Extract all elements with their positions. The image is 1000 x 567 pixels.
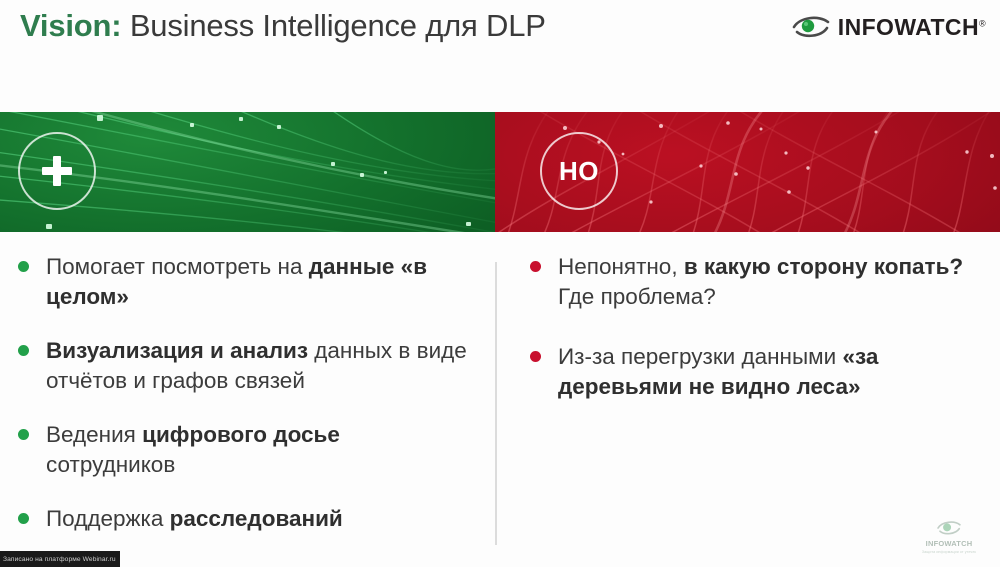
bullet-text: Визуализация и анализ данных в виде отчё…: [46, 336, 473, 396]
registered-mark: ®: [979, 18, 986, 28]
bullet-text: Ведения цифрового досье сотрудников: [46, 420, 473, 480]
infowatch-logo: INFOWATCH®: [791, 10, 986, 44]
bullet-text: Поддержка расследований: [46, 504, 343, 534]
bullet-dot-icon: [18, 261, 29, 272]
bullet-text: Непонятно, в какую сторону копать? Где п…: [558, 252, 980, 312]
title-accent-word: Vision:: [20, 8, 121, 43]
pros-badge: [18, 132, 96, 210]
page-title: Vision: Business Intelligence для DLP: [20, 8, 546, 44]
pros-column: Помогает посмотреть на данные «в целом» …: [18, 252, 473, 557]
banner-red-half: НО: [495, 112, 1000, 232]
footer-logo-watermark: INFOWATCH Защита информации от утечек: [916, 513, 982, 561]
list-item: Помогает посмотреть на данные «в целом»: [18, 252, 473, 312]
cons-badge-label: НО: [559, 158, 599, 184]
footer-watermark-label: INFOWATCH: [926, 539, 973, 548]
list-item: Из-за перегрузки данными «за деревьями н…: [530, 342, 980, 402]
plus-icon: [42, 156, 72, 186]
title-rest: Business Intelligence для DLP: [130, 8, 546, 43]
bullet-dot-icon: [530, 261, 541, 272]
cons-badge: НО: [540, 132, 618, 210]
infowatch-eye-icon: [791, 13, 831, 41]
bullet-text: Помогает посмотреть на данные «в целом»: [46, 252, 473, 312]
bullet-text: Из-за перегрузки данными «за деревьями н…: [558, 342, 980, 402]
bullet-dot-icon: [18, 345, 29, 356]
cons-column: Непонятно, в какую сторону копать? Где п…: [530, 252, 980, 432]
logo-wordmark: INFOWATCH®: [838, 14, 986, 41]
recording-watermark-bar: Записано на платформе Webinar.ru: [0, 551, 120, 567]
bullet-dot-icon: [18, 429, 29, 440]
list-item: Визуализация и анализ данных в виде отчё…: [18, 336, 473, 396]
list-item: Непонятно, в какую сторону копать? Где п…: [530, 252, 980, 312]
slide-content: Помогает посмотреть на данные «в целом» …: [0, 252, 1000, 552]
bullet-dot-icon: [530, 351, 541, 362]
list-item: Ведения цифрового досье сотрудников: [18, 420, 473, 480]
slide-header: Vision: Business Intelligence для DLP IN…: [0, 0, 1000, 100]
list-item: Поддержка расследований: [18, 504, 473, 534]
pros-cons-banner: НО: [0, 112, 1000, 232]
recording-watermark-text: Записано на платформе Webinar.ru: [3, 556, 116, 563]
presentation-slide: Vision: Business Intelligence для DLP IN…: [0, 0, 1000, 567]
banner-green-half: [0, 112, 495, 232]
infowatch-eye-icon-small: [936, 519, 962, 537]
footer-watermark-sublabel: Защита информации от утечек: [922, 550, 976, 554]
column-divider: [495, 262, 497, 545]
bullet-dot-icon: [18, 513, 29, 524]
